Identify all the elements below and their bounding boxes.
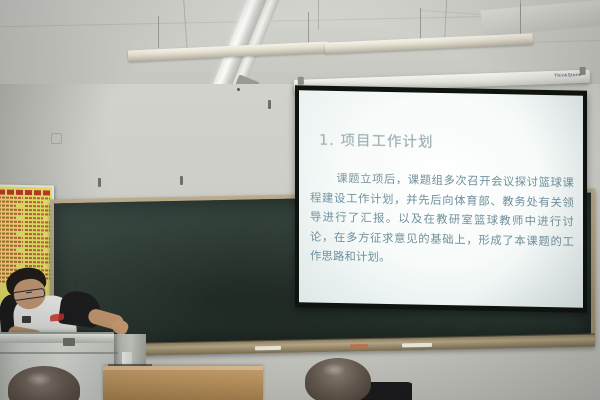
poster-text-line: [0, 228, 23, 231]
poster-text-line: [25, 245, 50, 248]
poster-text-line: [0, 252, 23, 255]
poster-text-line: [0, 220, 23, 223]
wall-switch-plate[interactable]: [52, 134, 61, 143]
poster-text-line: [0, 216, 16, 218]
wall-hook: [180, 176, 183, 185]
poster-text-line: [25, 213, 50, 216]
poster-text-line: [0, 208, 23, 211]
poster-text-line: [25, 237, 50, 240]
poster-text-line: [0, 236, 23, 239]
poster-text-line: [0, 248, 16, 250]
poster-text-line: [0, 204, 16, 206]
poster-text-line: [25, 217, 43, 219]
slide-body-text: 课题立项后，课题组多次召开会议探讨篮球课程建设工作计划，并先后向体育部、教务处有…: [310, 168, 574, 271]
poster-text-line: [0, 260, 23, 263]
poster-text-line: [0, 212, 23, 215]
classroom-photo-scene: ThinkStone 1. 项目工作计划 课题立项后，课题组多次召开会议探讨篮球…: [0, 0, 600, 400]
projected-slide: 1. 项目工作计划 课题立项后，课题组多次召开会议探讨篮球课程建设工作计划，并先…: [299, 90, 583, 307]
light-suspension-wire: [308, 12, 309, 46]
poster-text-line: [0, 232, 16, 234]
foreground-desk: [103, 366, 263, 400]
light-suspension-wire: [420, 8, 421, 40]
podium-seam: [0, 352, 118, 354]
poster-text-line: [25, 253, 50, 256]
slide-body-line: 课题立项后，课题组多次召开会议探讨: [336, 172, 539, 189]
desk-edge: [103, 366, 263, 370]
poster-text-line: [25, 229, 50, 232]
audience-head-highlight: [322, 363, 346, 376]
poster-text-line: [25, 225, 50, 228]
slide-title: 1. 项目工作计划: [319, 129, 433, 152]
wall-mark: [237, 88, 240, 91]
poster-text-line: [0, 200, 23, 203]
poster-text-line: [25, 209, 50, 212]
podium-latch[interactable]: [63, 338, 75, 346]
poster-text-line: [0, 256, 23, 259]
wall-hook: [98, 178, 101, 187]
poster-text-line: [0, 196, 23, 199]
light-suspension-wire: [158, 16, 159, 48]
poster-text-line: [25, 261, 50, 264]
chalk-stick: [402, 343, 432, 348]
chalk-eraser: [350, 344, 368, 348]
poster-text-line: [25, 221, 50, 224]
shirt-badge: [22, 316, 31, 323]
poster-text-line: [25, 241, 50, 244]
poster-title-band: [0, 189, 50, 195]
poster-text-line: [25, 205, 50, 208]
poster-text-line: [0, 224, 23, 227]
ceiling-duct: [480, 0, 600, 36]
chalk-stick: [255, 346, 281, 351]
wall-hook: [268, 100, 271, 109]
poster-text-line: [0, 264, 16, 266]
podium-top-surface: [0, 334, 114, 343]
poster-text-line: [25, 201, 43, 203]
ceiling-tile-seam: [318, 0, 319, 30]
poster-text-line: [0, 240, 23, 243]
light-suspension-wire: [520, 4, 521, 34]
ceiling-tile-seam: [183, 0, 188, 52]
screen-brand-label: ThinkStone: [554, 72, 582, 78]
poster-text-line: [25, 233, 43, 235]
poster-text-line: [25, 249, 43, 251]
poster-text-line: [25, 257, 50, 260]
audience-head-highlight: [26, 372, 52, 386]
poster-text-line: [0, 244, 23, 247]
screen-mount-bracket: [298, 77, 304, 85]
poster-text-line: [25, 197, 50, 200]
projector-screen[interactable]: 1. 项目工作计划 课题立项后，课题组多次召开会议探讨篮球课程建设工作计划，并先…: [295, 85, 587, 313]
